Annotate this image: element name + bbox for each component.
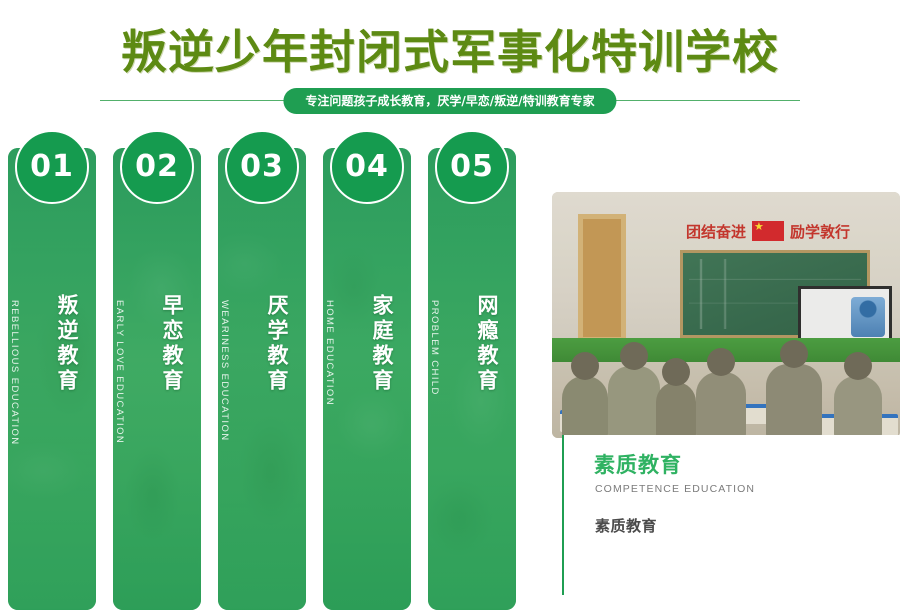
card-slot-5: 网瘾教育 PROBLEM CHILD 05 (428, 130, 516, 614)
info-panel: 素质教育 COMPETENCE EDUCATION 素质教育 (562, 435, 900, 595)
card-slot-4: 家庭教育 HOME EDUCATION 04 (323, 130, 411, 614)
subtitle-pill: 专注问题孩子成长教育，厌学/早恋/叛逆/特训教育专家 (283, 88, 616, 114)
card-title-en: REBELLIOUS EDUCATION (9, 300, 20, 446)
card-title-en: EARLY LOVE EDUCATION (114, 300, 125, 444)
category-card-problem-child[interactable]: 网瘾教育 PROBLEM CHILD (428, 148, 516, 610)
category-card-weariness[interactable]: 厌学教育 WEARINESS EDUCATION (218, 148, 306, 610)
category-card-home[interactable]: 家庭教育 HOME EDUCATION (323, 148, 411, 610)
card-text-group: 网瘾教育 PROBLEM CHILD (428, 148, 516, 610)
classroom-photo: 团结奋进 励学敦行 (552, 192, 900, 438)
category-card-rebellious[interactable]: 叛逆教育 REBELLIOUS EDUCATION (8, 148, 96, 610)
card-title-cn: 早恋教育 (159, 294, 185, 394)
card-title-cn: 家庭教育 (369, 294, 395, 394)
category-card-early-love[interactable]: 早恋教育 EARLY LOVE EDUCATION (113, 148, 201, 610)
subtitle-band: 专注问题孩子成长教育，厌学/早恋/叛逆/特训教育专家 (0, 88, 900, 114)
page-header: 叛逆少年封闭式军事化特训学校 专注问题孩子成长教育，厌学/早恋/叛逆/特训教育专… (0, 0, 900, 130)
card-slot-2: 早恋教育 EARLY LOVE EDUCATION 02 (113, 130, 201, 614)
card-title-en: WEARINESS EDUCATION (219, 300, 230, 442)
page-title: 叛逆少年封闭式军事化特训学校 (0, 16, 900, 82)
card-slot-1: 叛逆教育 REBELLIOUS EDUCATION 01 (8, 130, 96, 614)
photo-tint (552, 192, 900, 438)
card-number-badge: 03 (225, 130, 299, 204)
card-title-cn: 叛逆教育 (54, 294, 80, 394)
card-text-group: 厌学教育 WEARINESS EDUCATION (218, 148, 306, 610)
card-title-en: HOME EDUCATION (324, 300, 335, 406)
card-slot-3: 厌学教育 WEARINESS EDUCATION 03 (218, 130, 306, 614)
category-card-list: 叛逆教育 REBELLIOUS EDUCATION 01 早恋教育 EARLY … (0, 130, 540, 614)
card-text-group: 家庭教育 HOME EDUCATION (323, 148, 411, 610)
card-number-badge: 04 (330, 130, 404, 204)
card-number-badge: 01 (15, 130, 89, 204)
card-text-group: 早恋教育 EARLY LOVE EDUCATION (113, 148, 201, 610)
card-title-cn: 厌学教育 (264, 294, 290, 394)
card-title-cn: 网瘾教育 (474, 294, 500, 394)
card-text-group: 叛逆教育 REBELLIOUS EDUCATION (8, 148, 96, 610)
info-subtitle: COMPETENCE EDUCATION (595, 483, 755, 495)
card-number-badge: 02 (120, 130, 194, 204)
info-body-text: 素质教育 (595, 515, 657, 536)
card-number-badge: 05 (435, 130, 509, 204)
info-title: 素质教育 (594, 449, 682, 479)
card-title-en: PROBLEM CHILD (429, 300, 440, 396)
